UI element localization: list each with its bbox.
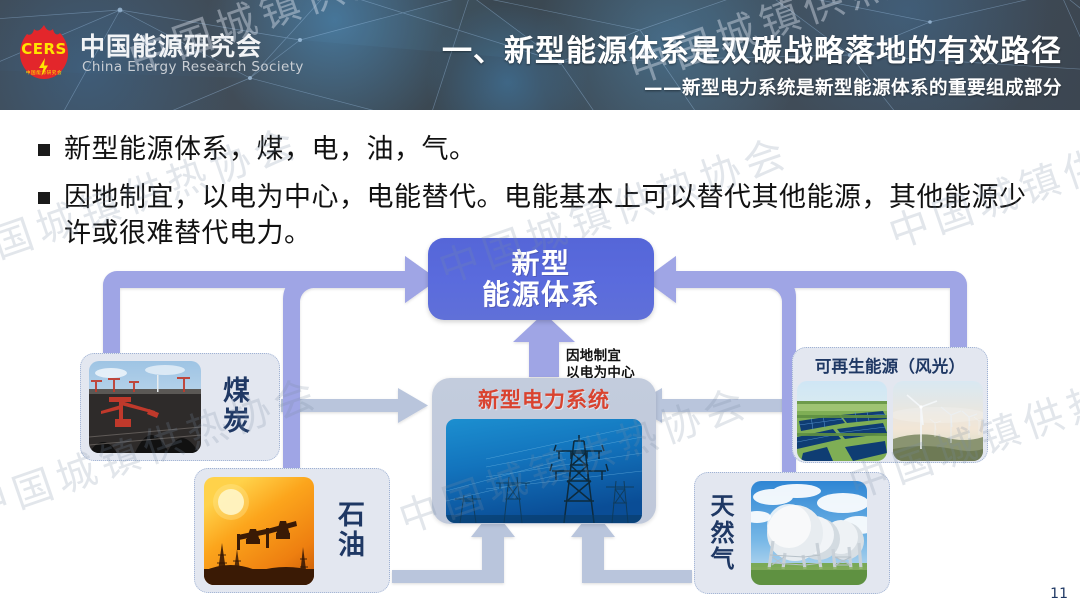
gas-storage-tanks-image: [751, 481, 867, 585]
organization-logo: CERS 中国能源研究会 中国能源研究会 China Energy Resear…: [14, 21, 254, 87]
logo-name-cn: 中国能源研究会: [80, 27, 262, 63]
page-subtitle: ——新型电力系统是新型能源体系的重要组成部分: [644, 74, 1062, 100]
page-title: 一、新型能源体系是双碳战略落地的有效路径: [442, 26, 1062, 70]
node-top-line1: 新型: [511, 248, 570, 279]
node-oil-label: 石油: [330, 501, 374, 560]
node-source-coal[interactable]: 煤炭: [80, 353, 280, 461]
power-grid-tower-image: [446, 419, 642, 523]
solar-farm-image: [797, 381, 887, 461]
annotation-line1: 因地制宜: [566, 348, 635, 365]
logo-name-en: China Energy Research Society: [82, 59, 304, 75]
bullet-text-1: 新型能源体系，煤，电，油，气。: [64, 132, 477, 168]
page-number: 11: [1050, 586, 1068, 602]
slide-header: CERS 中国能源研究会 中国能源研究会 China Energy Resear…: [0, 0, 1080, 110]
node-source-oil[interactable]: 石油: [194, 468, 390, 593]
node-coal-label: 煤炭: [215, 377, 259, 436]
node-source-gas[interactable]: 天然气: [694, 472, 890, 594]
node-new-power-system[interactable]: 新型电力系统: [432, 378, 656, 524]
node-power-title: 新型电力系统: [478, 384, 610, 414]
bullet-item-1: 新型能源体系，煤，电，油，气。: [38, 132, 477, 168]
energy-system-diagram: 新型 能源体系 因地制宜 以电为中心 新型电力系统: [0, 225, 1080, 608]
bullet-square-icon: [38, 192, 50, 204]
node-top-line2: 能源体系: [482, 279, 600, 310]
center-arrow-annotation: 因地制宜 以电为中心: [566, 348, 635, 382]
renewables-images: [797, 381, 983, 461]
wind-turbines-image: [893, 381, 983, 461]
oil-pumpjacks-image: [204, 477, 314, 585]
slide-root: CERS 中国能源研究会 中国能源研究会 China Energy Resear…: [0, 0, 1080, 608]
svg-text:CERS: CERS: [21, 40, 67, 58]
node-new-energy-system[interactable]: 新型 能源体系: [428, 238, 654, 320]
node-source-renewables[interactable]: 可再生能源（风光）: [792, 347, 988, 463]
svg-text:中国能源研究会: 中国能源研究会: [26, 69, 62, 76]
node-gas-label: 天然气: [705, 493, 741, 572]
node-renewables-label: 可再生能源（风光）: [815, 353, 965, 377]
coal-port-image: [89, 361, 201, 453]
bullet-square-icon: [38, 144, 50, 156]
cers-flame-logo-icon: CERS 中国能源研究会: [14, 23, 74, 83]
